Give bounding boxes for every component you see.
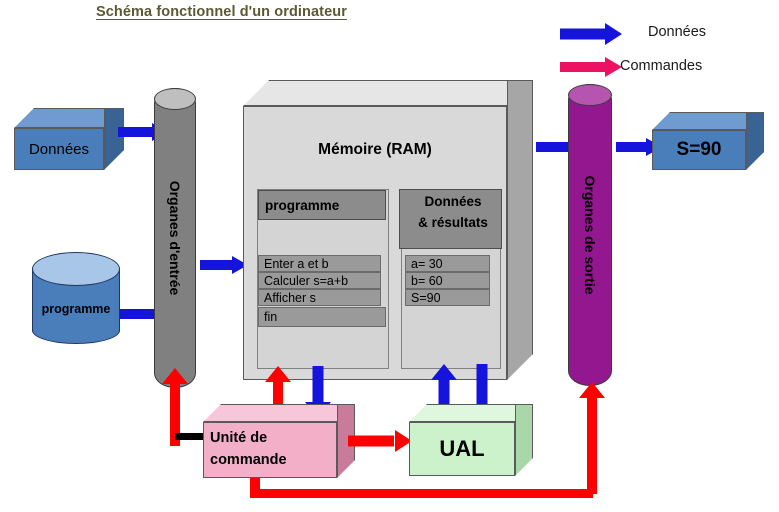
input-data-box: Données (14, 108, 124, 170)
data-value-line: S=90 (405, 289, 490, 306)
alu-box: UAL (409, 404, 533, 476)
arrow-command-to-output-organs (578, 382, 606, 494)
program-store-cylinder: programme (32, 252, 120, 344)
program-line: fin (258, 307, 386, 327)
output-result-box-front-face: S=90 (652, 130, 746, 170)
output-result-box: S=90 (652, 112, 764, 170)
program-line: Enter a et b (258, 255, 381, 272)
memory-title: Mémoire (RAM) (244, 141, 506, 159)
diagram-canvas: Schéma fonctionnel d'un ordinateur Donné… (0, 0, 779, 512)
page-title: Schéma fonctionnel d'un ordinateur (96, 4, 347, 20)
legend-data-arrow-icon (560, 23, 622, 45)
memory-box-side-face (507, 80, 533, 380)
control-unit-label-line1: Unité de (210, 428, 336, 450)
output-result-box-label: S=90 (677, 139, 722, 161)
output-organs-label: Organes de sortie (582, 175, 598, 294)
input-data-box-front-face: Données (14, 128, 104, 170)
program-panel-header: programme (258, 190, 386, 220)
output-organs-top-ellipse (568, 84, 612, 106)
memory-box-top-face (243, 80, 533, 106)
program-line: Calculer s=a+b (258, 272, 381, 289)
alu-front-face: UAL (409, 422, 515, 476)
program-line: Afficher s (258, 289, 381, 306)
memory-box-front-face: Mémoire (RAM) programme Enter a et b Cal… (243, 106, 507, 380)
data-value-line: b= 60 (405, 272, 490, 289)
arrow-control-to-alu (348, 430, 412, 452)
input-organs-label: Organes d'entrée (167, 181, 183, 296)
legend-label-data: Données (648, 24, 706, 40)
alu-top-face (409, 404, 533, 422)
input-organs-top-ellipse (154, 88, 196, 110)
legend-command-arrow-icon (560, 57, 622, 77)
legend: Données Commandes (560, 12, 775, 68)
data-panel-header-line1: Données (405, 192, 501, 213)
arrow-input-organs-to-memory (200, 256, 248, 274)
program-store-label: programme (32, 302, 120, 316)
data-value-line: a= 30 (405, 255, 490, 272)
control-unit-box: Unité de commande (203, 404, 355, 478)
alu-label: UAL (439, 436, 484, 462)
command-loop-horizontal (250, 489, 593, 498)
output-result-box-side-face (746, 112, 764, 170)
control-unit-label-line2: commande (210, 450, 336, 472)
data-panel-header-line2: & résultats (405, 213, 501, 234)
input-organs-cylinder: Organes d'entrée (154, 88, 196, 388)
control-unit-front-face: Unité de commande (203, 422, 337, 478)
memory-box: Mémoire (RAM) programme Enter a et b Cal… (243, 80, 533, 380)
input-data-box-label: Données (29, 141, 89, 158)
control-unit-top-face (203, 404, 355, 422)
alu-side-face (515, 404, 533, 476)
output-organs-cylinder: Organes de sortie (568, 84, 612, 386)
program-store-top-ellipse (32, 252, 120, 286)
legend-label-command: Commandes (620, 58, 702, 74)
data-panel-header: Données & résultats (399, 189, 502, 249)
